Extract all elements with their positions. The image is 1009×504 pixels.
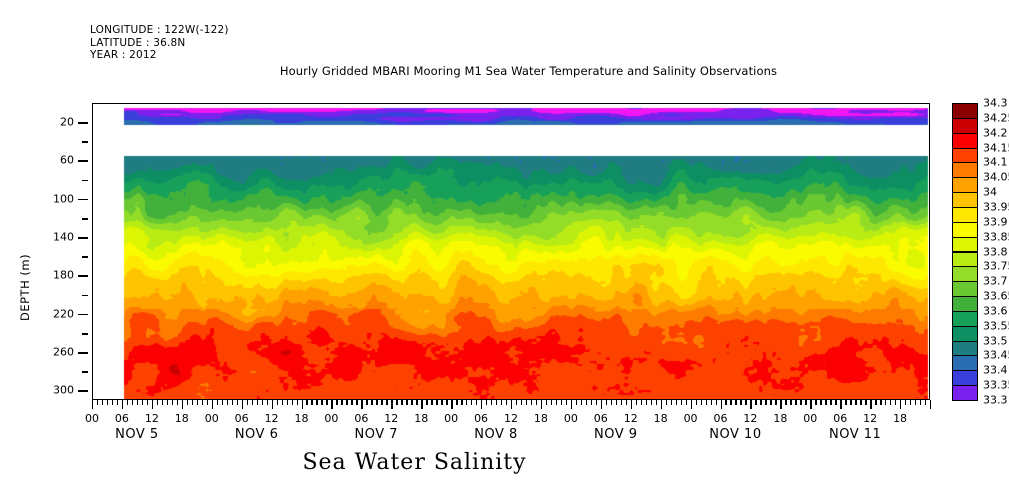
colorbar-band [952, 266, 978, 282]
time-tick-minor [825, 400, 826, 405]
time-tick-major [242, 400, 243, 409]
colorbar-tick-label: 34.1 [983, 156, 1008, 169]
time-tick-minor [566, 400, 567, 405]
time-tick-label: 06 [235, 412, 249, 425]
time-tick-minor [850, 400, 851, 405]
colorbar-tick-label: 33.65 [983, 290, 1009, 303]
depth-tick-minor [82, 218, 88, 220]
time-tick-major [481, 400, 482, 409]
time-tick-minor [621, 400, 622, 405]
depth-tick-label: 220 [53, 307, 74, 320]
time-tick-minor [765, 400, 766, 405]
time-tick-minor [232, 400, 233, 405]
time-tick-minor [905, 400, 906, 405]
time-tick-label: 06 [115, 412, 129, 425]
time-tick-minor [531, 400, 532, 405]
time-tick-minor [177, 400, 178, 405]
time-tick-minor [147, 400, 148, 405]
time-tick-minor [471, 400, 472, 405]
time-tick-minor [207, 400, 208, 405]
time-tick-minor [521, 400, 522, 405]
time-tick-minor [920, 400, 921, 405]
depth-tick-label: 100 [53, 192, 74, 205]
time-tick-label: 12 [504, 412, 518, 425]
colorbar-tick-label: 33.6 [983, 304, 1008, 317]
time-tick-minor [556, 400, 557, 405]
time-tick-minor [366, 400, 367, 405]
time-tick-minor [102, 400, 103, 405]
colorbar-band [952, 162, 978, 178]
depth-tick-minor [82, 371, 88, 373]
time-tick-minor [222, 400, 223, 405]
time-tick-minor [800, 400, 801, 405]
time-tick-major [361, 400, 362, 409]
time-tick-major [451, 400, 452, 409]
depth-axis: DEPTH (m) 2060100140180220260300 [0, 103, 88, 400]
station-metadata: LONGITUDE : 122W(-122) LATITUDE : 36.8N … [90, 24, 229, 62]
time-tick-label: 12 [863, 412, 877, 425]
time-tick-minor [386, 400, 387, 405]
time-tick-minor [681, 400, 682, 405]
time-tick-major [122, 400, 123, 409]
time-tick-minor [247, 400, 248, 405]
date-label: NOV 7 [355, 427, 399, 442]
time-tick-minor [696, 400, 697, 405]
colorbar-tick-label: 33.35 [983, 379, 1009, 392]
time-tick-minor [526, 400, 527, 405]
time-tick-minor [431, 400, 432, 405]
time-tick-minor [371, 400, 372, 405]
colorbar-tick-label: 33.5 [983, 334, 1008, 347]
colorbar-tick-label: 34.15 [983, 141, 1009, 154]
time-tick-minor [416, 400, 417, 405]
time-tick-major [511, 400, 512, 409]
time-tick-minor [112, 400, 113, 405]
time-tick-minor [267, 400, 268, 405]
time-tick-minor [586, 400, 587, 405]
time-tick-major [691, 400, 692, 409]
colorbar-band [952, 326, 978, 342]
time-tick-minor [651, 400, 652, 405]
time-tick-minor [406, 400, 407, 405]
time-tick-minor [217, 400, 218, 405]
colorbar-band [952, 177, 978, 193]
time-tick-minor [820, 400, 821, 405]
time-tick-major [780, 400, 781, 409]
time-tick-minor [97, 400, 98, 405]
colorbar-band [952, 192, 978, 208]
time-tick-minor [321, 400, 322, 405]
time-tick-minor [117, 400, 118, 405]
colorbar-tick-label: 33.85 [983, 230, 1009, 243]
time-tick-label: 00 [444, 412, 458, 425]
depth-tick-minor [82, 256, 88, 258]
time-tick-label: 12 [145, 412, 159, 425]
time-tick-minor [785, 400, 786, 405]
time-tick-minor [282, 400, 283, 405]
time-tick-label: 06 [833, 412, 847, 425]
colorbar-tick-label: 33.9 [983, 215, 1008, 228]
depth-tick-minor [82, 180, 88, 182]
variable-title-text: Sea Water Salinity [302, 450, 526, 475]
colorbar-band [952, 355, 978, 371]
colorbar-tick-label: 33.95 [983, 200, 1009, 213]
time-tick-major [750, 400, 751, 409]
time-tick-minor [461, 400, 462, 405]
colorbar-band [952, 296, 978, 312]
time-tick-minor [915, 400, 916, 405]
time-tick-major [840, 400, 841, 409]
time-tick-minor [516, 400, 517, 405]
depth-tick-major [78, 275, 88, 277]
time-tick-minor [326, 400, 327, 405]
time-tick-minor [775, 400, 776, 405]
time-tick-minor [202, 400, 203, 405]
time-tick-minor [167, 400, 168, 405]
time-tick-minor [381, 400, 382, 405]
time-tick-minor [142, 400, 143, 405]
time-tick-minor [740, 400, 741, 405]
time-tick-minor [666, 400, 667, 405]
time-tick-major [212, 400, 213, 409]
time-tick-minor [441, 400, 442, 405]
time-tick-minor [436, 400, 437, 405]
variable-title: Sea Water Salinity [0, 450, 1009, 475]
time-tick-minor [536, 400, 537, 405]
y-axis-title: DEPTH (m) [18, 254, 32, 321]
colorbar-tick-label: 33.4 [983, 364, 1008, 377]
time-tick-minor [711, 400, 712, 405]
time-tick-minor [860, 400, 861, 405]
time-tick-major [631, 400, 632, 409]
time-tick-minor [351, 400, 352, 405]
colorbar-band [952, 118, 978, 134]
time-tick-minor [456, 400, 457, 405]
time-tick-minor [716, 400, 717, 405]
time-tick-major [661, 400, 662, 409]
time-tick-minor [197, 400, 198, 405]
time-tick-major [541, 400, 542, 409]
time-tick-minor [591, 400, 592, 405]
time-tick-minor [262, 400, 263, 405]
time-tick-minor [790, 400, 791, 405]
time-tick-minor [561, 400, 562, 405]
colorbar-tick-label: 34 [983, 186, 997, 199]
time-tick-major [182, 400, 183, 409]
time-tick-minor [890, 400, 891, 405]
time-tick-minor [770, 400, 771, 405]
time-tick-minor [706, 400, 707, 405]
time-tick-label: 18 [295, 412, 309, 425]
depth-tick-label: 300 [53, 384, 74, 397]
time-tick-minor [396, 400, 397, 405]
time-tick-minor [316, 400, 317, 405]
time-tick-label: 06 [354, 412, 368, 425]
longitude-text: LONGITUDE : 122W(-122) [90, 24, 229, 37]
date-label: NOV 10 [709, 427, 761, 442]
date-label: NOV 9 [594, 427, 638, 442]
time-tick-minor [496, 400, 497, 405]
time-tick-minor [855, 400, 856, 405]
time-tick-minor [626, 400, 627, 405]
date-label: NOV 5 [115, 427, 159, 442]
time-tick-major [810, 400, 811, 409]
colorbar-band [952, 148, 978, 164]
time-tick-minor [795, 400, 796, 405]
time-tick-minor [172, 400, 173, 405]
time-tick-minor [486, 400, 487, 405]
colorbar-tick-label: 34.3 [983, 97, 1008, 110]
date-label: NOV 6 [235, 427, 279, 442]
colorbar-tick-label: 33.3 [983, 394, 1008, 407]
time-tick-major [92, 400, 93, 409]
time-tick-minor [636, 400, 637, 405]
time-tick-major [930, 400, 931, 409]
plot-title-text: Hourly Gridded MBARI Mooring M1 Sea Wate… [280, 64, 777, 78]
time-tick-minor [127, 400, 128, 405]
time-tick-minor [187, 400, 188, 405]
time-tick-minor [277, 400, 278, 405]
time-tick-label: 18 [534, 412, 548, 425]
time-tick-label: 18 [773, 412, 787, 425]
date-label: NOV 11 [829, 427, 881, 442]
depth-tick-label: 20 [60, 116, 74, 129]
time-tick-minor [426, 400, 427, 405]
time-tick-minor [895, 400, 896, 405]
depth-tick-major [78, 390, 88, 392]
time-tick-minor [646, 400, 647, 405]
time-tick-minor [306, 400, 307, 405]
time-tick-minor [880, 400, 881, 405]
depth-tick-major [78, 314, 88, 316]
colorbar-tick-label: 33.75 [983, 260, 1009, 273]
time-tick-minor [157, 400, 158, 405]
colorbar-band [952, 370, 978, 386]
time-tick-label: 12 [265, 412, 279, 425]
time-tick-minor [701, 400, 702, 405]
time-axis: 0006121800061218000612180006121800061218… [92, 400, 930, 446]
time-tick-minor [346, 400, 347, 405]
colorbar-band [952, 252, 978, 268]
time-tick-minor [581, 400, 582, 405]
colorbar-tick-label: 33.45 [983, 349, 1009, 362]
colorbar-tick-label: 34.2 [983, 126, 1008, 139]
time-tick-minor [466, 400, 467, 405]
time-tick-major [571, 400, 572, 409]
time-tick-minor [760, 400, 761, 405]
time-tick-minor [137, 400, 138, 405]
latitude-text: LATITUDE : 36.8N [90, 37, 229, 50]
colorbar-band [952, 103, 978, 119]
time-tick-label: 00 [803, 412, 817, 425]
time-tick-minor [865, 400, 866, 405]
time-tick-major [870, 400, 871, 409]
time-tick-major [302, 400, 303, 409]
time-tick-minor [616, 400, 617, 405]
depth-tick-major [78, 199, 88, 201]
time-tick-minor [606, 400, 607, 405]
time-tick-minor [830, 400, 831, 405]
time-tick-minor [686, 400, 687, 405]
year-text: YEAR : 2012 [90, 49, 229, 62]
time-tick-major [721, 400, 722, 409]
time-tick-minor [725, 400, 726, 405]
time-tick-minor [835, 400, 836, 405]
time-tick-major [601, 400, 602, 409]
time-tick-major [421, 400, 422, 409]
depth-tick-major [78, 237, 88, 239]
time-tick-label: 12 [384, 412, 398, 425]
time-tick-minor [336, 400, 337, 405]
time-tick-label: 00 [564, 412, 578, 425]
time-tick-label: 00 [324, 412, 338, 425]
depth-tick-minor [82, 141, 88, 143]
time-tick-major [900, 400, 901, 409]
time-tick-label: 18 [654, 412, 668, 425]
time-tick-minor [805, 400, 806, 405]
time-tick-minor [656, 400, 657, 405]
time-tick-minor [192, 400, 193, 405]
depth-tick-minor [82, 333, 88, 335]
time-tick-minor [671, 400, 672, 405]
colorbar-tick-label: 34.05 [983, 171, 1009, 184]
colorbar-tick-label: 33.7 [983, 275, 1008, 288]
time-tick-minor [815, 400, 816, 405]
time-tick-minor [401, 400, 402, 405]
time-tick-minor [311, 400, 312, 405]
time-tick-minor [446, 400, 447, 405]
time-tick-minor [252, 400, 253, 405]
page-title: Hourly Gridded MBARI Mooring M1 Sea Wate… [0, 64, 1009, 78]
colorbar-band [952, 385, 978, 401]
time-tick-minor [596, 400, 597, 405]
depth-tick-major [78, 352, 88, 354]
time-tick-major [152, 400, 153, 409]
time-tick-label: 06 [594, 412, 608, 425]
colorbar-band [952, 237, 978, 253]
time-tick-minor [676, 400, 677, 405]
colorbar [952, 103, 978, 399]
time-tick-minor [237, 400, 238, 405]
time-tick-minor [755, 400, 756, 405]
colorbar-tick-label: 33.55 [983, 319, 1009, 332]
time-tick-label: 00 [684, 412, 698, 425]
time-tick-minor [551, 400, 552, 405]
depth-tick-label: 60 [60, 154, 74, 167]
time-tick-major [391, 400, 392, 409]
time-tick-label: 12 [624, 412, 638, 425]
time-tick-minor [735, 400, 736, 405]
time-tick-minor [611, 400, 612, 405]
time-tick-minor [546, 400, 547, 405]
time-tick-major [331, 400, 332, 409]
time-tick-label: 00 [205, 412, 219, 425]
time-tick-minor [501, 400, 502, 405]
colorbar-band [952, 133, 978, 149]
colorbar-band [952, 281, 978, 297]
depth-tick-major [78, 160, 88, 162]
time-tick-minor [356, 400, 357, 405]
time-tick-minor [885, 400, 886, 405]
time-tick-minor [745, 400, 746, 405]
colorbar-band [952, 222, 978, 238]
time-tick-minor [107, 400, 108, 405]
time-tick-minor [297, 400, 298, 405]
time-tick-minor [730, 400, 731, 405]
time-tick-major [272, 400, 273, 409]
time-tick-minor [476, 400, 477, 405]
time-tick-minor [257, 400, 258, 405]
time-tick-label: 18 [893, 412, 907, 425]
colorbar-band [952, 207, 978, 223]
time-tick-minor [292, 400, 293, 405]
time-tick-label: 18 [175, 412, 189, 425]
depth-tick-label: 180 [53, 269, 74, 282]
colorbar-band [952, 341, 978, 357]
time-tick-label: 00 [85, 412, 99, 425]
colorbar-tick-label: 33.8 [983, 245, 1008, 258]
time-tick-minor [491, 400, 492, 405]
depth-tick-label: 260 [53, 346, 74, 359]
time-tick-minor [162, 400, 163, 405]
time-tick-minor [376, 400, 377, 405]
time-tick-minor [845, 400, 846, 405]
time-tick-label: 06 [474, 412, 488, 425]
time-tick-label: 12 [743, 412, 757, 425]
depth-tick-major [78, 122, 88, 124]
time-tick-label: 06 [714, 412, 728, 425]
time-tick-minor [411, 400, 412, 405]
time-tick-minor [341, 400, 342, 405]
time-tick-minor [925, 400, 926, 405]
time-tick-minor [227, 400, 228, 405]
time-tick-label: 18 [414, 412, 428, 425]
time-tick-minor [506, 400, 507, 405]
time-tick-minor [132, 400, 133, 405]
time-tick-minor [875, 400, 876, 405]
salinity-heatmap [92, 103, 930, 400]
time-tick-minor [287, 400, 288, 405]
time-tick-minor [576, 400, 577, 405]
date-label: NOV 8 [474, 427, 518, 442]
colorbar-tick-label: 34.25 [983, 111, 1009, 124]
depth-tick-minor [82, 295, 88, 297]
time-tick-minor [641, 400, 642, 405]
colorbar-band [952, 311, 978, 327]
depth-tick-label: 140 [53, 231, 74, 244]
time-tick-minor [910, 400, 911, 405]
